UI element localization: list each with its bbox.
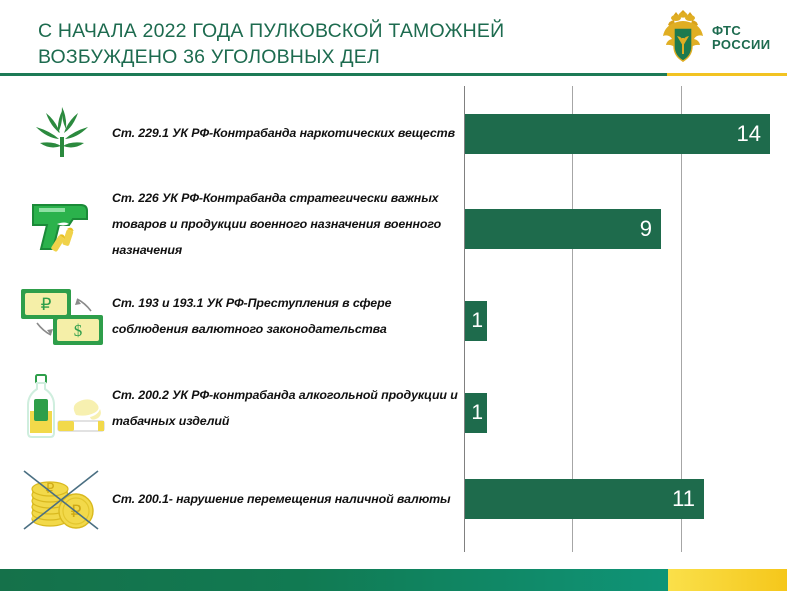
chart-row: Ст. 229.1 УК РФ-Контрабанда наркотически… (0, 88, 787, 178)
bar-1: 14 (465, 114, 770, 154)
row-icon-slot (8, 362, 116, 454)
bar-4: 1 (465, 393, 487, 433)
currency-exchange-icon: ₽ $ (19, 283, 105, 349)
slide-header: С НАЧАЛА 2022 ГОДА ПУЛКОВСКОЙ ТАМОЖНЕЙ В… (0, 0, 787, 80)
bar-value-4: 1 (471, 401, 487, 425)
bar-3: 1 (465, 301, 487, 341)
logo-line-2: РОССИИ (712, 38, 770, 52)
category-label: Ст. 226 УК РФ-Контрабанда стратегически … (112, 178, 462, 270)
pistol-icon (27, 195, 97, 253)
cash-crossed-out-icon: ₽ ₽ (20, 463, 104, 535)
slide-footer (0, 569, 787, 591)
footer-bar-green (0, 569, 668, 591)
svg-text:$: $ (74, 321, 83, 340)
chart-row: ₽ $ Ст. 193 и 193.1 УК РФ-Преступления в… (0, 270, 787, 362)
logo-line-1: ФТС (712, 24, 770, 38)
alcohol-tobacco-icon (16, 373, 108, 443)
svg-text:₽: ₽ (41, 295, 52, 314)
logo-wordmark: ФТС РОССИИ (712, 24, 770, 51)
chart-row: Ст. 200.2 УК РФ-контрабанда алкогольной … (0, 362, 787, 454)
bar-5: 11 (465, 479, 704, 519)
category-label: Ст. 229.1 УК РФ-Контрабанда наркотически… (112, 88, 462, 178)
row-icon-slot (8, 88, 116, 178)
category-label: Ст. 193 и 193.1 УК РФ-Преступления в сфе… (112, 270, 462, 362)
bar-2: 9 (465, 209, 661, 249)
cannabis-leaf-icon (30, 101, 94, 165)
bar-chart: Ст. 229.1 УК РФ-Контрабанда наркотически… (0, 84, 787, 554)
category-label: Ст. 200.2 УК РФ-контрабанда алкогольной … (112, 362, 462, 454)
chart-row: ₽ ₽ Ст. 200.1- нарушение перемещения нал… (0, 454, 787, 544)
footer-bar-yellow (668, 569, 787, 591)
row-icon-slot: ₽ ₽ (8, 454, 116, 544)
bar-value-2: 9 (640, 216, 661, 242)
double-headed-eagle-icon (660, 10, 706, 66)
page-title: С НАЧАЛА 2022 ГОДА ПУЛКОВСКОЙ ТАМОЖНЕЙ В… (38, 18, 638, 70)
row-icon-slot: ₽ $ (8, 270, 116, 362)
row-icon-slot (8, 178, 116, 270)
slide-root: С НАЧАЛА 2022 ГОДА ПУЛКОВСКОЙ ТАМОЖНЕЙ В… (0, 0, 787, 591)
bar-value-1: 14 (737, 121, 770, 147)
category-label: Ст. 200.1- нарушение перемещения налично… (112, 454, 462, 544)
header-divider-accent (667, 73, 787, 76)
fts-logo: ФТС РОССИИ (660, 8, 782, 68)
bar-value-5: 11 (672, 486, 704, 512)
bar-value-3: 1 (471, 309, 487, 333)
chart-row: Ст. 226 УК РФ-Контрабанда стратегически … (0, 178, 787, 270)
